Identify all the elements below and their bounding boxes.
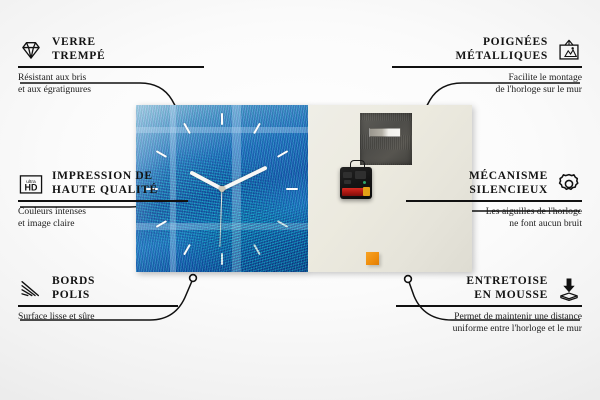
callout-divider	[18, 305, 178, 306]
polished-edges-icon	[18, 276, 44, 302]
face-grid-line	[232, 105, 241, 272]
hour-tick	[221, 113, 223, 125]
callout-title-line2: POLIS	[52, 289, 95, 303]
callout-subtitle: Les aiguilles de l'horloge ne font aucun…	[406, 206, 582, 231]
callout-sub-line2: ne font aucun bruit	[406, 218, 582, 230]
callout-title-line1: BORDS	[52, 275, 95, 289]
callout-sub-line1: Facilite le montage	[392, 72, 582, 84]
diamond-icon	[18, 37, 44, 63]
callout-title: VERRE TREMPÉ	[52, 36, 105, 63]
mechanism-detail	[343, 172, 352, 178]
mechanism-indicator	[363, 181, 366, 184]
callout-title: MÉCANISME SILENCIEUX	[469, 170, 548, 197]
callout-subtitle: Facilite le montage de l'horloge sur le …	[392, 72, 582, 97]
handle-slot	[369, 128, 401, 137]
callout-poignees-metalliques: POIGNÉES MÉTALLIQUES Facilite le montage…	[392, 36, 582, 96]
callout-title-line2: TREMPÉ	[52, 50, 105, 64]
battery-terminal	[363, 187, 370, 196]
callout-title-line2: SILENCIEUX	[469, 184, 548, 198]
callout-bords-polis: BORDS POLIS Surface lisse et sûre	[18, 275, 178, 323]
callout-subtitle: Permet de maintenir une distance uniform…	[396, 311, 582, 336]
hour-tick	[156, 150, 167, 158]
callout-sub-line2: et aux égratignures	[18, 84, 204, 96]
hour-tick	[183, 122, 191, 133]
hour-tick	[221, 253, 223, 265]
callout-title-line2: HAUTE QUALITÉ	[52, 184, 158, 198]
endpoint-bords	[190, 275, 197, 282]
hour-tick	[253, 122, 261, 133]
callout-sub-line2: uniforme entre l'horloge et le mur	[396, 323, 582, 335]
callout-title-line1: IMPRESSION DE	[52, 170, 158, 184]
hour-tick	[286, 188, 298, 190]
ultra-hd-icon: ultra HD	[18, 171, 44, 197]
callout-impression-haute-qualite: ultra HD IMPRESSION DE HAUTE QUALITÉ Cou…	[18, 170, 188, 230]
callout-sub-line1: Les aiguilles de l'horloge	[406, 206, 582, 218]
callout-sub-line2: et image claire	[18, 218, 188, 230]
callout-header: POIGNÉES MÉTALLIQUES	[392, 36, 582, 63]
callout-header: MÉCANISME SILENCIEUX	[406, 170, 582, 197]
callout-verre-trempe: VERRE TREMPÉ Résistant aux bris et aux é…	[18, 36, 204, 96]
callout-title-line2: EN MOUSSE	[466, 289, 548, 303]
clock-mechanism	[340, 167, 372, 199]
callout-subtitle: Surface lisse et sûre	[18, 311, 178, 323]
callout-divider	[18, 66, 204, 67]
hand-cap	[219, 186, 225, 192]
hour-tick	[277, 150, 288, 158]
mechanism-detail	[355, 171, 366, 179]
callout-subtitle: Couleurs intenses et image claire	[18, 206, 188, 231]
callout-sub-line1: Permet de maintenir une distance	[396, 311, 582, 323]
foam-spacer	[366, 252, 379, 265]
callout-header: ultra HD IMPRESSION DE HAUTE QUALITÉ	[18, 170, 188, 197]
callout-sub-line1: Couleurs intenses	[18, 206, 188, 218]
callout-header: ENTRETOISE EN MOUSSE	[396, 275, 582, 302]
callout-title: ENTRETOISE EN MOUSSE	[466, 275, 548, 302]
callout-subtitle: Résistant aux bris et aux égratignures	[18, 72, 204, 97]
metal-handle-plate	[360, 113, 412, 165]
hour-tick	[253, 243, 261, 254]
hour-tick	[277, 220, 288, 228]
callout-title-line1: VERRE	[52, 36, 105, 50]
callout-title-line2: MÉTALLIQUES	[456, 50, 548, 64]
callout-entretoise-en-mousse: ENTRETOISE EN MOUSSE Permet de maintenir…	[396, 275, 582, 335]
minute-hand	[221, 165, 267, 190]
callout-divider	[18, 200, 188, 201]
second-hand	[219, 188, 222, 246]
hanging-loop-icon	[350, 160, 365, 170]
callout-divider	[392, 66, 582, 67]
infographic-stage: VERRE TREMPÉ Résistant aux bris et aux é…	[0, 0, 600, 400]
callout-title-line1: MÉCANISME	[469, 170, 548, 184]
callout-sub-line1: Surface lisse et sûre	[18, 311, 178, 323]
hour-hand	[189, 170, 223, 190]
foam-spacer-icon	[556, 276, 582, 302]
callout-divider	[396, 305, 582, 306]
callout-header: VERRE TREMPÉ	[18, 36, 204, 63]
callout-title: IMPRESSION DE HAUTE QUALITÉ	[52, 170, 158, 197]
gear-icon	[556, 171, 582, 197]
callout-divider	[406, 200, 582, 201]
callout-title-line1: POIGNÉES	[456, 36, 548, 50]
callout-sub-line1: Résistant aux bris	[18, 72, 204, 84]
wall-hanger-icon	[556, 37, 582, 63]
hour-tick	[183, 243, 191, 254]
callout-header: BORDS POLIS	[18, 275, 178, 302]
callout-mecanisme-silencieux: MÉCANISME SILENCIEUX Les aiguilles de l'…	[406, 170, 582, 230]
callout-title: BORDS POLIS	[52, 275, 95, 302]
mechanism-detail	[344, 180, 351, 184]
callout-title: POIGNÉES MÉTALLIQUES	[456, 36, 548, 63]
callout-title-line1: ENTRETOISE	[466, 275, 548, 289]
callout-sub-line2: de l'horloge sur le mur	[392, 84, 582, 96]
face-grid-line	[136, 127, 308, 133]
ultra-hd-icon-main-label: HD	[25, 182, 38, 192]
